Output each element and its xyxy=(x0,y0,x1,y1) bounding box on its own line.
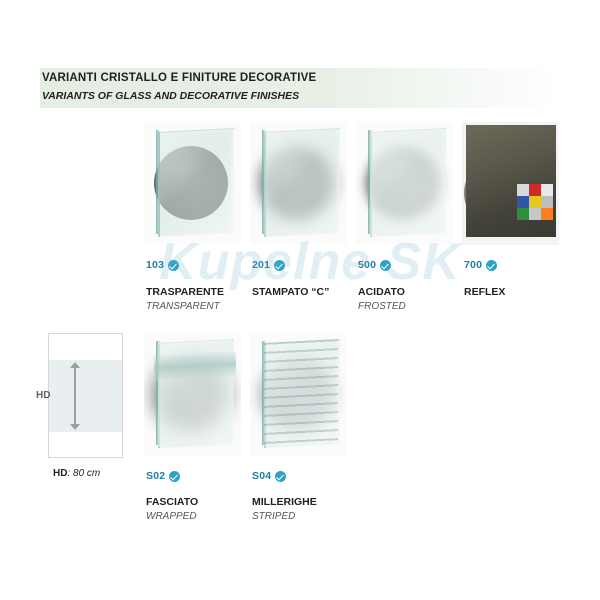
check-circle-icon xyxy=(380,260,391,271)
texture-overlay xyxy=(264,128,338,236)
check-circle-icon xyxy=(486,260,497,271)
code-label: 201 xyxy=(252,259,270,271)
arrow-shaft xyxy=(74,367,76,425)
swatch-cell xyxy=(529,208,541,220)
page-subtitle: VARIANTS OF GLASS AND DECORATIVE FINISHE… xyxy=(42,90,299,102)
sample-tile-700[interactable] xyxy=(462,122,559,245)
swatch-cell xyxy=(541,184,553,196)
frost-overlay xyxy=(370,128,444,236)
hd-caption-label: HD xyxy=(53,468,67,479)
swatch-cell xyxy=(517,196,529,208)
check-circle-icon xyxy=(274,260,285,271)
page-title: VARIANTI CRISTALLO E FINITURE DECORATIVE xyxy=(42,72,316,84)
sample-code-S02: S02 xyxy=(146,470,180,482)
hd-fill-area xyxy=(49,360,122,432)
catalog-page: VARIANTI CRISTALLO E FINITURE DECORATIVE… xyxy=(0,0,600,600)
check-circle-icon xyxy=(168,260,179,271)
reflex-pane xyxy=(466,125,556,237)
sample-tile-103[interactable] xyxy=(144,122,241,245)
code-label: 700 xyxy=(464,259,482,271)
swatch-cell xyxy=(541,208,553,220)
code-label: S02 xyxy=(146,470,165,482)
sample-tile-500[interactable] xyxy=(356,122,453,245)
arrow-head-down xyxy=(70,424,80,430)
sample-image-700 xyxy=(462,122,559,245)
sample-code-103: 103 xyxy=(146,259,179,271)
sample-name-en-S02: WRAPPED xyxy=(146,511,197,522)
sample-name-en-103: TRANSPARENT xyxy=(146,301,220,312)
swatch-cell xyxy=(529,196,541,208)
hd-caption: HD: 80 cm xyxy=(53,468,100,479)
hd-arrow-label: HD xyxy=(36,390,50,401)
check-circle-icon xyxy=(275,471,286,482)
sample-image-201 xyxy=(250,122,347,245)
sample-tile-201[interactable] xyxy=(250,122,347,245)
sample-name-it-S04: MILLERIGHE xyxy=(252,496,317,508)
code-label: 103 xyxy=(146,259,164,271)
swatch-cell xyxy=(517,208,529,220)
sample-name-it-700: REFLEX xyxy=(464,286,505,298)
sample-name-it-201: STAMPATO “C” xyxy=(252,286,329,298)
code-label: S04 xyxy=(252,470,271,482)
sample-tile-S02[interactable] xyxy=(144,333,241,456)
color-swatch-grid xyxy=(517,184,553,220)
sample-tile-S04[interactable] xyxy=(250,333,347,456)
sample-name-it-103: TRASPARENTE xyxy=(146,286,224,298)
swatch-cell xyxy=(529,184,541,196)
hd-caption-value: : 80 cm xyxy=(67,468,100,479)
sample-image-S04 xyxy=(250,333,347,456)
hd-arrow-icon xyxy=(70,362,80,430)
code-label: 500 xyxy=(358,259,376,271)
sample-image-103 xyxy=(144,122,241,245)
check-circle-icon xyxy=(169,471,180,482)
swatch-cell xyxy=(541,196,553,208)
glass-pane xyxy=(158,128,234,237)
sample-code-S04: S04 xyxy=(252,470,286,482)
sample-name-en-500: FROSTED xyxy=(358,301,406,312)
sample-code-500: 500 xyxy=(358,259,391,271)
sample-code-700: 700 xyxy=(464,259,497,271)
sample-image-S02 xyxy=(144,333,241,456)
sample-image-500 xyxy=(356,122,453,245)
hd-diagram xyxy=(48,333,123,458)
sample-name-it-500: ACIDATO xyxy=(358,286,405,298)
stripe-texture xyxy=(264,339,338,447)
band-stripe xyxy=(154,351,236,381)
swatch-cell xyxy=(517,184,529,196)
sample-code-201: 201 xyxy=(252,259,285,271)
sample-name-en-S04: STRIPED xyxy=(252,511,295,522)
sample-name-it-S02: FASCIATO xyxy=(146,496,198,508)
